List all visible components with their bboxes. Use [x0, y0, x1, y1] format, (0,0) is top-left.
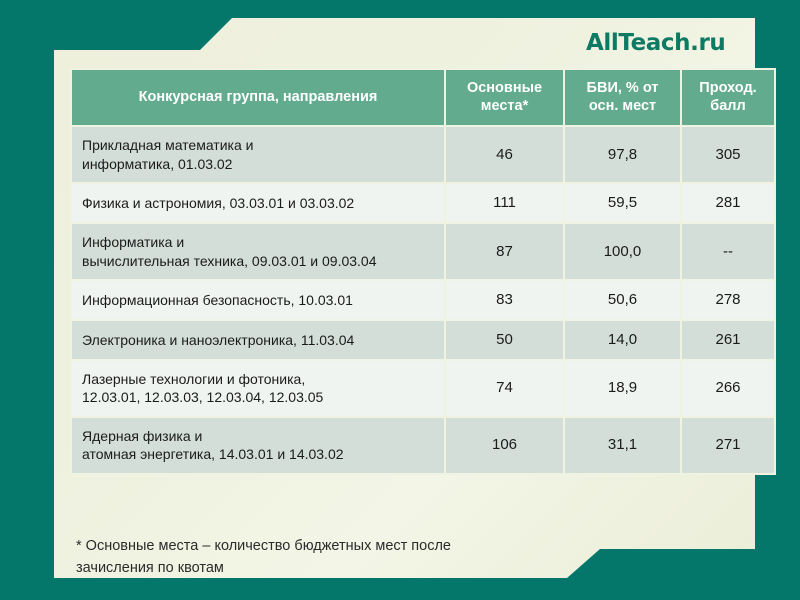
- column-header-name: Конкурсная группа, направления: [71, 69, 445, 126]
- cell-bvi: 50,6: [564, 280, 681, 320]
- cell-places: 74: [445, 360, 564, 417]
- cell-program-name: Прикладная математика и информатика, 01.…: [71, 126, 445, 183]
- cell-program-name: Информатика и вычислительная техника, 09…: [71, 223, 445, 280]
- footnote: * Основные места – количество бюджетных …: [76, 536, 546, 580]
- column-header-bvi-line1: БВИ, % от: [571, 80, 674, 98]
- cell-places: 46: [445, 126, 564, 183]
- cell-bvi: 18,9: [564, 360, 681, 417]
- cell-places: 50: [445, 320, 564, 360]
- table-row: Лазерные технологии и фотоника, 12.03.01…: [71, 360, 775, 417]
- program-name-line2: атомная энергетика, 14.03.01 и 14.03.02: [82, 445, 434, 463]
- cell-bvi: 59,5: [564, 183, 681, 223]
- cell-program-name: Электроника и наноэлектроника, 11.03.04: [71, 320, 445, 360]
- table-row: Электроника и наноэлектроника, 11.03.04 …: [71, 320, 775, 360]
- table-row: Информационная безопасность, 10.03.01 83…: [71, 280, 775, 320]
- cell-places: 111: [445, 183, 564, 223]
- slide-root: AllTeach.ru Конкурсная группа, направлен…: [0, 0, 800, 600]
- footnote-line2: зачисления по квотам: [76, 558, 546, 580]
- footnote-line1: * Основные места – количество бюджетных …: [76, 536, 546, 558]
- program-name-line1: Электроника и наноэлектроника, 11.03.04: [82, 331, 434, 349]
- column-header-bvi-line2: осн. мест: [571, 98, 674, 116]
- column-header-places-line2: места*: [452, 98, 557, 116]
- cell-bvi: 31,1: [564, 417, 681, 474]
- cell-score: 266: [681, 360, 775, 417]
- column-header-places-line1: Основные: [452, 80, 557, 98]
- cell-score: --: [681, 223, 775, 280]
- program-name-line1: Информатика и: [82, 233, 434, 251]
- cell-bvi: 97,8: [564, 126, 681, 183]
- table-row: Прикладная математика и информатика, 01.…: [71, 126, 775, 183]
- cell-places: 83: [445, 280, 564, 320]
- brand-logo[interactable]: AllTeach.ru: [586, 30, 725, 56]
- cell-score: 271: [681, 417, 775, 474]
- cell-score: 305: [681, 126, 775, 183]
- cell-places: 87: [445, 223, 564, 280]
- cell-score: 278: [681, 280, 775, 320]
- program-name-line1: Физика и астрономия, 03.03.01 и 03.03.02: [82, 194, 434, 212]
- cell-bvi: 14,0: [564, 320, 681, 360]
- column-header-score-line1: Проход.: [688, 80, 768, 98]
- table-header: Конкурсная группа, направления Основные …: [71, 69, 775, 126]
- program-name-line1: Информационная безопасность, 10.03.01: [82, 291, 434, 309]
- column-header-bvi: БВИ, % от осн. мест: [564, 69, 681, 126]
- table-row: Физика и астрономия, 03.03.01 и 03.03.02…: [71, 183, 775, 223]
- program-name-line1: Прикладная математика и: [82, 136, 434, 154]
- table-body: Прикладная математика и информатика, 01.…: [71, 126, 775, 473]
- column-header-score: Проход. балл: [681, 69, 775, 126]
- program-name-line2: 12.03.01, 12.03.03, 12.03.04, 12.03.05: [82, 388, 434, 406]
- program-name-line2: информатика, 01.03.02: [82, 155, 434, 173]
- table-row: Информатика и вычислительная техника, 09…: [71, 223, 775, 280]
- cell-score: 281: [681, 183, 775, 223]
- column-header-score-line2: балл: [688, 98, 768, 116]
- cell-program-name: Ядерная физика и атомная энергетика, 14.…: [71, 417, 445, 474]
- cell-program-name: Физика и астрономия, 03.03.01 и 03.03.02: [71, 183, 445, 223]
- program-name-line2: вычислительная техника, 09.03.01 и 09.03…: [82, 252, 434, 270]
- program-name-line1: Лазерные технологии и фотоника,: [82, 370, 434, 388]
- admissions-table-container: Конкурсная группа, направления Основные …: [70, 68, 718, 475]
- program-name-line1: Ядерная физика и: [82, 427, 434, 445]
- cell-places: 106: [445, 417, 564, 474]
- admissions-table: Конкурсная группа, направления Основные …: [70, 68, 776, 475]
- table-row: Ядерная физика и атомная энергетика, 14.…: [71, 417, 775, 474]
- cell-program-name: Лазерные технологии и фотоника, 12.03.01…: [71, 360, 445, 417]
- cell-program-name: Информационная безопасность, 10.03.01: [71, 280, 445, 320]
- cell-bvi: 100,0: [564, 223, 681, 280]
- table-header-row: Конкурсная группа, направления Основные …: [71, 69, 775, 126]
- cell-score: 261: [681, 320, 775, 360]
- column-header-places: Основные места*: [445, 69, 564, 126]
